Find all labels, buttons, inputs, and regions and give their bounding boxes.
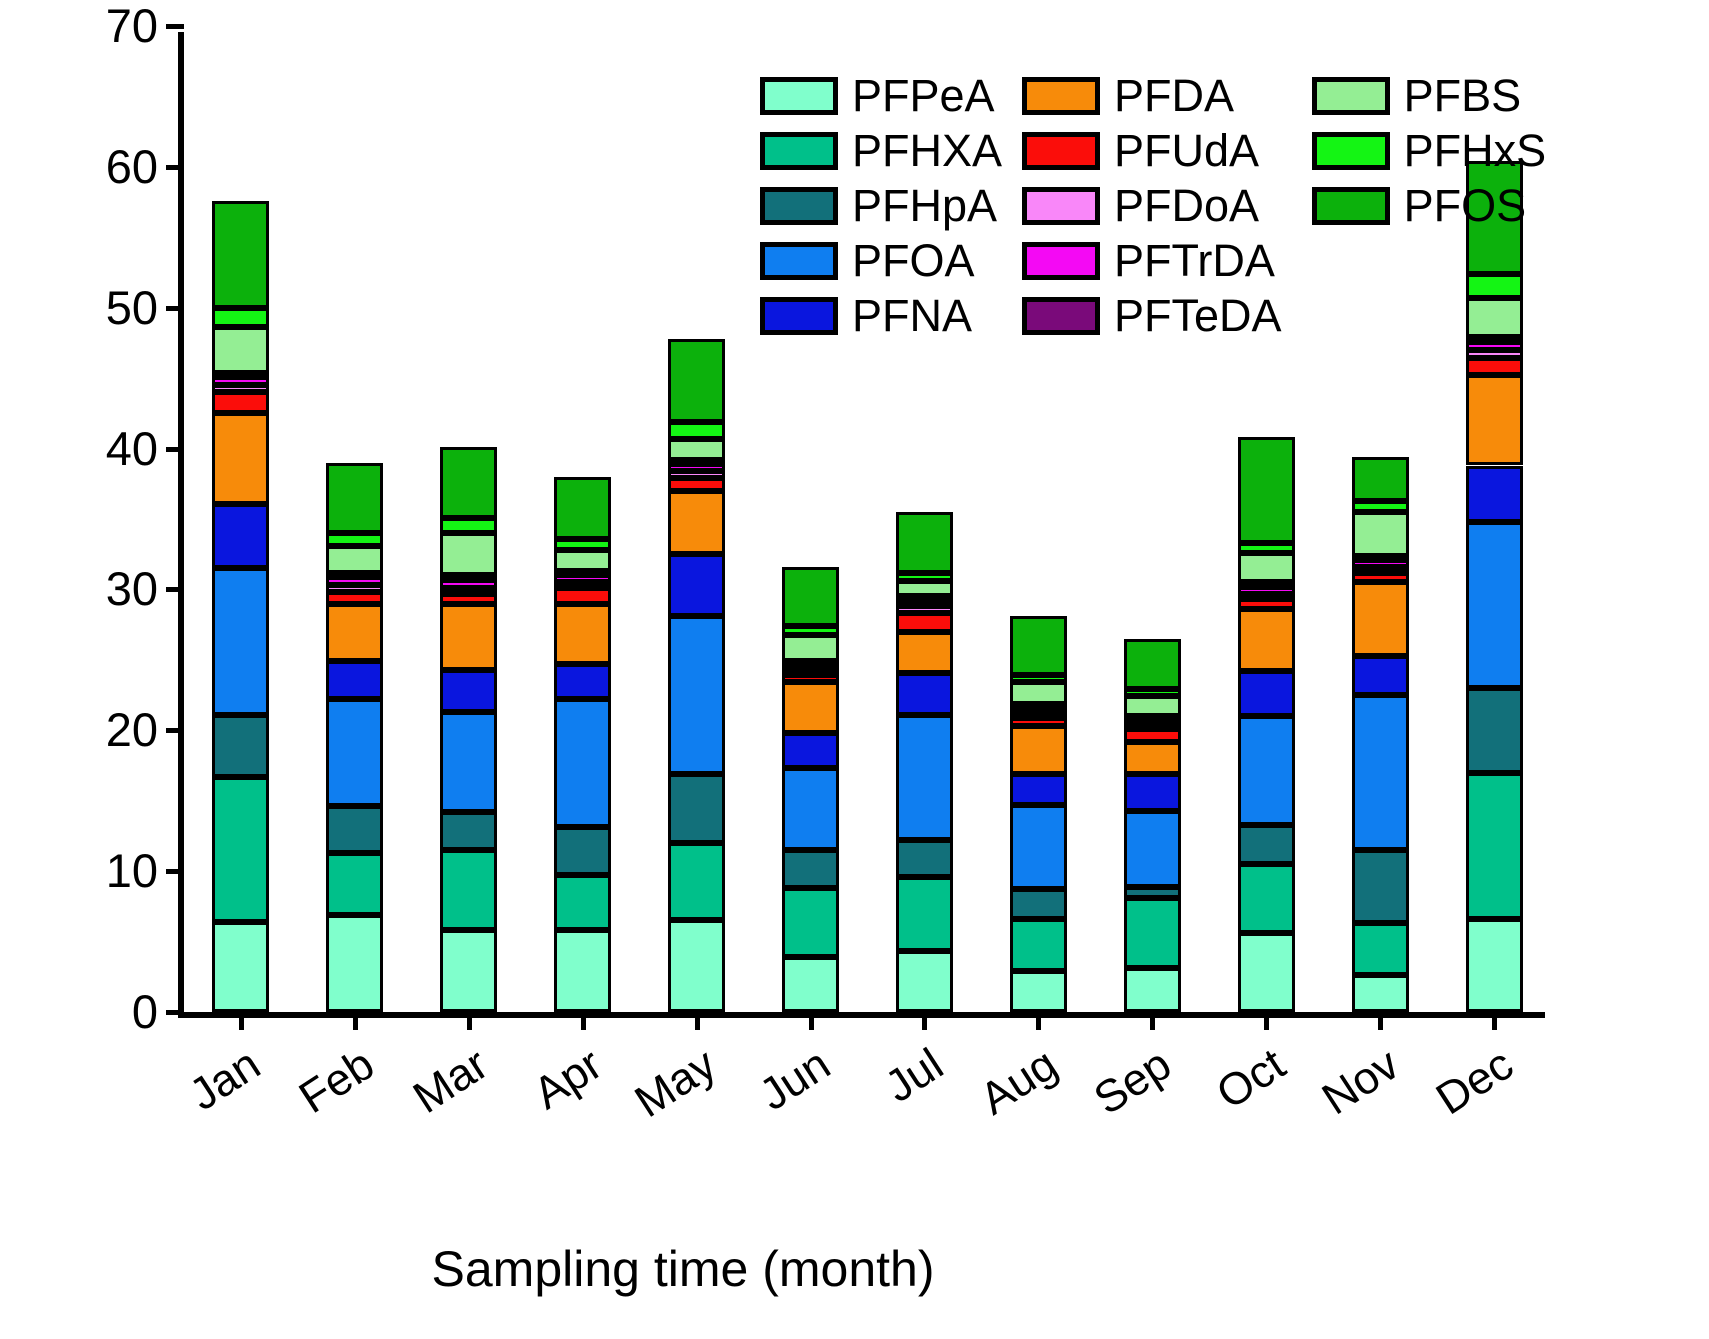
bar-segment-pfda[interactable]: [1352, 582, 1409, 655]
bar-segment-pfdoa[interactable]: [896, 606, 953, 613]
bar-segment-pfos[interactable]: [896, 512, 953, 573]
legend-label: PFHXA: [852, 125, 1002, 177]
bar-segment-pfda[interactable]: [554, 604, 611, 665]
x-axis-tick-mark: [695, 1012, 700, 1030]
bar-segment-pfos[interactable]: [1124, 639, 1181, 690]
legend-label: PFHxS: [1404, 125, 1547, 177]
bar-segment-pfda[interactable]: [1010, 726, 1067, 774]
legend-item-pfdoa[interactable]: PFDoA: [1022, 182, 1282, 230]
y-axis-tick-label: 50: [106, 281, 158, 335]
x-axis-tick-label: Apr: [524, 1038, 611, 1120]
x-axis-tick-mark: [1150, 1012, 1155, 1030]
bar-segment-pfoa[interactable]: [1010, 805, 1067, 890]
y-axis-tick-mark: [166, 24, 184, 29]
bar-segment-pfpea[interactable]: [896, 951, 953, 1012]
bar-segment-pfpea[interactable]: [212, 922, 269, 1012]
stacked-bar[interactable]: [896, 512, 953, 1012]
y-axis-tick-mark: [166, 869, 184, 874]
bar-segment-pfpea[interactable]: [1124, 968, 1181, 1012]
bar-segment-pfna[interactable]: [1352, 656, 1409, 695]
bar-segment-pftrda[interactable]: [440, 580, 497, 588]
y-axis-tick-label: 20: [106, 703, 158, 757]
bar-segment-pfhpa[interactable]: [1352, 850, 1409, 923]
x-axis-tick-label: Jan: [180, 1038, 269, 1121]
y-axis-tick-label: 70: [106, 0, 158, 53]
bar-segment-pfuda[interactable]: [440, 594, 497, 604]
legend-item-pftrda[interactable]: PFTrDA: [1022, 237, 1282, 285]
y-axis-tick-mark: [166, 587, 184, 592]
bar-segment-pfoa[interactable]: [212, 568, 269, 714]
stacked-bar[interactable]: [1124, 639, 1181, 1012]
bar-segment-pfos[interactable]: [1352, 457, 1409, 501]
bar-segment-pfhxa[interactable]: [554, 875, 611, 930]
legend-label: PFOA: [852, 235, 975, 287]
x-axis-tick-label: Feb: [290, 1038, 383, 1124]
bar-segment-pfoa[interactable]: [1238, 716, 1295, 824]
bar-segment-pfpea[interactable]: [440, 930, 497, 1012]
legend-label: PFTeDA: [1114, 290, 1282, 342]
bar-segment-pfhxa[interactable]: [1466, 773, 1523, 919]
bar-segment-pfuda[interactable]: [668, 478, 725, 491]
legend-column: PFBSPFHxSPFOS: [1312, 72, 1547, 340]
bar-segment-pfhxs[interactable]: [896, 573, 953, 581]
bar-segment-pfhxa[interactable]: [326, 853, 383, 915]
bar-segment-pfoa[interactable]: [1352, 695, 1409, 850]
bar-segment-pfbs[interactable]: [212, 327, 269, 372]
y-axis-tick-label: 30: [106, 562, 158, 616]
x-axis-tick-label: Dec: [1427, 1038, 1522, 1125]
legend-item-pfuda[interactable]: PFUdA: [1022, 127, 1282, 175]
bar-segment-pfdoa[interactable]: [668, 471, 725, 478]
bar-segment-pfhxs[interactable]: [1124, 689, 1181, 696]
legend-item-pfoa[interactable]: PFOA: [760, 237, 1002, 285]
bar-segment-pfhpa[interactable]: [554, 827, 611, 875]
legend-column: PFPeAPFHXAPFHpAPFOAPFNA: [760, 72, 1002, 340]
bar-segment-pfpea[interactable]: [1238, 933, 1295, 1012]
legend-label: PFOS: [1404, 180, 1527, 232]
bar-segment-pfoa[interactable]: [896, 715, 953, 840]
bar-segment-pfos[interactable]: [212, 201, 269, 308]
stacked-bar[interactable]: [554, 477, 611, 1012]
x-axis-tick-mark: [1264, 1012, 1269, 1030]
y-axis-tick-mark: [166, 306, 184, 311]
bar-segment-pfna[interactable]: [440, 670, 497, 712]
x-axis-tick-label: Sep: [1085, 1038, 1180, 1125]
bar-segment-pfbs[interactable]: [668, 439, 725, 460]
x-axis-tick-mark: [1036, 1012, 1041, 1030]
bar-segment-pfdoa[interactable]: [212, 385, 269, 392]
bar-segment-pfhpa[interactable]: [1010, 889, 1067, 919]
bar-segment-pftrda[interactable]: [896, 600, 953, 606]
bar-segment-pfuda[interactable]: [896, 613, 953, 631]
legend-item-pfos[interactable]: PFOS: [1312, 182, 1547, 230]
legend-swatch: [1022, 132, 1100, 170]
bar-segment-pfhpa[interactable]: [1124, 887, 1181, 898]
bar-segment-pfoa[interactable]: [554, 699, 611, 827]
bar-segment-pfhxa[interactable]: [668, 843, 725, 920]
bar-segment-pfhxs[interactable]: [1238, 543, 1295, 553]
bar-segment-pfbs[interactable]: [440, 533, 497, 575]
bar-segment-pfbs[interactable]: [896, 581, 953, 596]
bar-segment-pfhpa[interactable]: [668, 774, 725, 843]
y-axis-tick-mark: [166, 1010, 184, 1015]
x-axis-tick-mark: [353, 1012, 358, 1030]
bar-segment-pfdoa[interactable]: [326, 585, 383, 592]
legend-label: PFHpA: [852, 180, 997, 232]
bar-segment-pfhpa[interactable]: [326, 806, 383, 852]
bar-segment-pfpea[interactable]: [1466, 919, 1523, 1012]
bar-segment-pfna[interactable]: [1238, 671, 1295, 716]
y-axis-tick-label: 40: [106, 422, 158, 476]
bar-segment-pfhxa[interactable]: [1352, 923, 1409, 975]
x-axis-tick-label: Jul: [876, 1038, 953, 1113]
bar-segment-pfbs[interactable]: [326, 546, 383, 573]
bar-segment-pfhpa[interactable]: [782, 850, 839, 888]
bar-segment-pftrda[interactable]: [1352, 560, 1409, 567]
bar-segment-pfos[interactable]: [1238, 437, 1295, 543]
bar-segment-pftrda[interactable]: [212, 377, 269, 385]
legend-swatch: [760, 297, 838, 335]
bar-segment-pfhxa[interactable]: [440, 850, 497, 930]
bar-segment-pfhpa[interactable]: [212, 715, 269, 777]
stacked-bar[interactable]: [326, 463, 383, 1012]
legend-swatch: [760, 187, 838, 225]
bar-segment-pfna[interactable]: [326, 661, 383, 699]
legend-label: PFUdA: [1114, 125, 1259, 177]
bar-segment-pfuda[interactable]: [782, 675, 839, 682]
bar-segment-pfbs[interactable]: [1352, 512, 1409, 556]
bar-segment-pfda[interactable]: [1238, 609, 1295, 671]
bar-segment-pfos[interactable]: [440, 447, 497, 517]
legend-swatch: [760, 132, 838, 170]
chart-legend: PFPeAPFHXAPFHpAPFOAPFNAPFDAPFUdAPFDoAPFT…: [760, 72, 1546, 340]
bar-segment-pfuda[interactable]: [1238, 599, 1295, 609]
bar-segment-pfhxs[interactable]: [212, 308, 269, 328]
legend-item-pfda[interactable]: PFDA: [1022, 72, 1282, 120]
legend-item-pfteda[interactable]: PFTeDA: [1022, 292, 1282, 340]
bar-segment-pfhxs[interactable]: [1010, 675, 1067, 682]
bar-segment-pfuda[interactable]: [1466, 358, 1523, 375]
bar-segment-pfhxs[interactable]: [554, 539, 611, 550]
legend-swatch: [1022, 297, 1100, 335]
stacked-bar[interactable]: [212, 201, 269, 1012]
x-axis-tick-mark: [581, 1012, 586, 1030]
bar-segment-pftrda[interactable]: [554, 575, 611, 582]
x-axis-tick-mark: [1378, 1012, 1383, 1030]
bar-segment-pfda[interactable]: [326, 604, 383, 662]
legend-swatch: [1312, 77, 1390, 115]
bar-segment-pfuda[interactable]: [326, 592, 383, 603]
bar-segment-pfhxs[interactable]: [326, 533, 383, 546]
bar-segment-pfdoa[interactable]: [1466, 350, 1523, 358]
bar-segment-pfbs[interactable]: [1010, 682, 1067, 703]
bar-segment-pfoa[interactable]: [1124, 811, 1181, 887]
x-axis-tick-mark: [239, 1012, 244, 1030]
bar-segment-pfhpa[interactable]: [440, 812, 497, 850]
legend-swatch: [1022, 187, 1100, 225]
legend-swatch: [1022, 242, 1100, 280]
bar-segment-pfoa[interactable]: [440, 712, 497, 812]
x-axis-tick-label: Mar: [404, 1038, 497, 1124]
bar-segment-pfbs[interactable]: [1124, 696, 1181, 716]
bar-segment-pftrda[interactable]: [1466, 342, 1523, 350]
bar-segment-pfhxs[interactable]: [668, 422, 725, 439]
stacked-bar[interactable]: [668, 339, 725, 1012]
bar-segment-pfos[interactable]: [782, 567, 839, 626]
bar-segment-pfda[interactable]: [440, 604, 497, 670]
bar-segment-pfbs[interactable]: [554, 550, 611, 571]
legend-item-pfpea[interactable]: PFPeA: [760, 72, 1002, 120]
legend-label: PFDoA: [1114, 180, 1259, 232]
bar-segment-pfbs[interactable]: [1238, 553, 1295, 583]
bar-segment-pfhxs[interactable]: [440, 518, 497, 533]
bar-segment-pfda[interactable]: [1124, 742, 1181, 774]
legend-label: PFBS: [1404, 70, 1522, 122]
bar-segment-pfhxs[interactable]: [782, 626, 839, 634]
x-axis-tick-mark: [809, 1012, 814, 1030]
bar-segment-pfhxa[interactable]: [896, 877, 953, 952]
bar-segment-pfhxa[interactable]: [1010, 919, 1067, 971]
y-axis-tick-mark: [166, 728, 184, 733]
stacked-bar[interactable]: [440, 447, 497, 1012]
legend-label: PFTrDA: [1114, 235, 1275, 287]
bar-segment-pfda[interactable]: [668, 491, 725, 554]
bar-segment-pftrda[interactable]: [668, 464, 725, 471]
bar-segment-pfna[interactable]: [1466, 466, 1523, 522]
bar-segment-pfna[interactable]: [782, 733, 839, 768]
bar-segment-pfdoa[interactable]: [1352, 567, 1409, 573]
y-axis-tick-label: 60: [106, 140, 158, 194]
bar-segment-pfhxa[interactable]: [1238, 864, 1295, 933]
legend-item-pfhxa[interactable]: PFHXA: [760, 127, 1002, 175]
legend-item-pfhxs[interactable]: PFHxS: [1312, 127, 1547, 175]
legend-item-pfna[interactable]: PFNA: [760, 292, 1002, 340]
bar-segment-pfoa[interactable]: [782, 768, 839, 850]
legend-column: PFDAPFUdAPFDoAPFTrDAPFTeDA: [1022, 72, 1282, 340]
bar-segment-pfna[interactable]: [554, 664, 611, 699]
bar-segment-pfdoa[interactable]: [440, 588, 497, 594]
bar-segment-pfpea[interactable]: [326, 915, 383, 1012]
x-axis-tick-mark: [467, 1012, 472, 1030]
stacked-bar[interactable]: [1238, 437, 1295, 1012]
bar-segment-pfhxs[interactable]: [1352, 501, 1409, 512]
bar-segment-pfuda[interactable]: [212, 392, 269, 413]
bar-segment-pfoa[interactable]: [326, 699, 383, 806]
x-axis-tick-mark: [922, 1012, 927, 1030]
x-axis-tick-mark: [1492, 1012, 1497, 1030]
y-axis-tick-label: 10: [106, 844, 158, 898]
bar-segment-pfoa[interactable]: [1466, 522, 1523, 688]
bar-segment-pfda[interactable]: [212, 413, 269, 503]
y-axis-tick-mark: [166, 165, 184, 170]
legend-swatch: [760, 77, 838, 115]
bar-segment-pfda[interactable]: [782, 682, 839, 733]
x-axis-tick-label: Nov: [1313, 1038, 1408, 1125]
bar-segment-pfhxa[interactable]: [212, 777, 269, 922]
legend-label: PFNA: [852, 290, 972, 342]
x-axis-tick-label: Jun: [750, 1038, 839, 1121]
legend-swatch: [1312, 187, 1390, 225]
bar-segment-pfos[interactable]: [1010, 616, 1067, 675]
bar-segment-pfhxa[interactable]: [782, 888, 839, 957]
bar-segment-pftrda[interactable]: [782, 665, 839, 671]
bar-segment-pfda[interactable]: [1466, 375, 1523, 465]
bar-segment-pfos[interactable]: [554, 477, 611, 539]
legend-item-pfbs[interactable]: PFBS: [1312, 72, 1547, 120]
bar-segment-pfpea[interactable]: [1010, 971, 1067, 1012]
bar-segment-pfhpa[interactable]: [1238, 825, 1295, 864]
bar-segment-pfbs[interactable]: [782, 635, 839, 662]
bar-segment-pfpea[interactable]: [782, 957, 839, 1012]
bar-segment-pfna[interactable]: [212, 504, 269, 569]
x-axis-title: Sampling time (month): [432, 1240, 935, 1298]
bar-segment-pfuda[interactable]: [1352, 573, 1409, 583]
bar-segment-pfuda[interactable]: [554, 588, 611, 603]
bar-segment-pfpea[interactable]: [554, 930, 611, 1012]
chart-figure: PFAAs concentration (pg m-3) 01020304050…: [0, 0, 1709, 1339]
bar-segment-pfhxa[interactable]: [1124, 898, 1181, 968]
legend-item-pfhpa[interactable]: PFHpA: [760, 182, 1002, 230]
y-axis-tick-mark: [166, 447, 184, 452]
stacked-bar[interactable]: [1352, 457, 1409, 1012]
x-axis-tick-label: Aug: [971, 1038, 1066, 1125]
bar-segment-pfuda[interactable]: [1010, 718, 1067, 726]
legend-swatch: [760, 242, 838, 280]
bar-segment-pfpea[interactable]: [668, 920, 725, 1012]
bar-segment-pfoa[interactable]: [668, 616, 725, 774]
bar-segment-pfos[interactable]: [326, 463, 383, 533]
stacked-bar[interactable]: [782, 567, 839, 1012]
bar-segment-pftrda[interactable]: [1238, 587, 1295, 594]
x-axis-tick-label: Oct: [1207, 1038, 1294, 1120]
x-axis-tick-label: May: [625, 1038, 725, 1128]
legend-label: PFDA: [1114, 70, 1234, 122]
bar-segment-pfpea[interactable]: [1352, 975, 1409, 1012]
legend-swatch: [1312, 132, 1390, 170]
bar-segment-pfhpa[interactable]: [1466, 688, 1523, 773]
bar-segment-pfna[interactable]: [896, 673, 953, 715]
legend-label: PFPeA: [852, 70, 995, 122]
bar-segment-pfos[interactable]: [668, 339, 725, 422]
bar-segment-pfna[interactable]: [1010, 774, 1067, 805]
bar-segment-pfdoa[interactable]: [1238, 593, 1295, 599]
y-axis-tick-label: 0: [132, 985, 158, 1039]
bar-segment-pfhpa[interactable]: [896, 840, 953, 877]
bar-segment-pfna[interactable]: [1124, 774, 1181, 811]
bar-segment-pfdoa[interactable]: [554, 582, 611, 588]
bar-segment-pftrda[interactable]: [326, 577, 383, 585]
legend-swatch: [1022, 77, 1100, 115]
stacked-bar[interactable]: [1010, 616, 1067, 1012]
bar-segment-pftrda[interactable]: [1010, 707, 1067, 713]
bar-segment-pfda[interactable]: [896, 632, 953, 673]
bar-segment-pfna[interactable]: [668, 554, 725, 616]
bar-segment-pfuda[interactable]: [1124, 729, 1181, 742]
